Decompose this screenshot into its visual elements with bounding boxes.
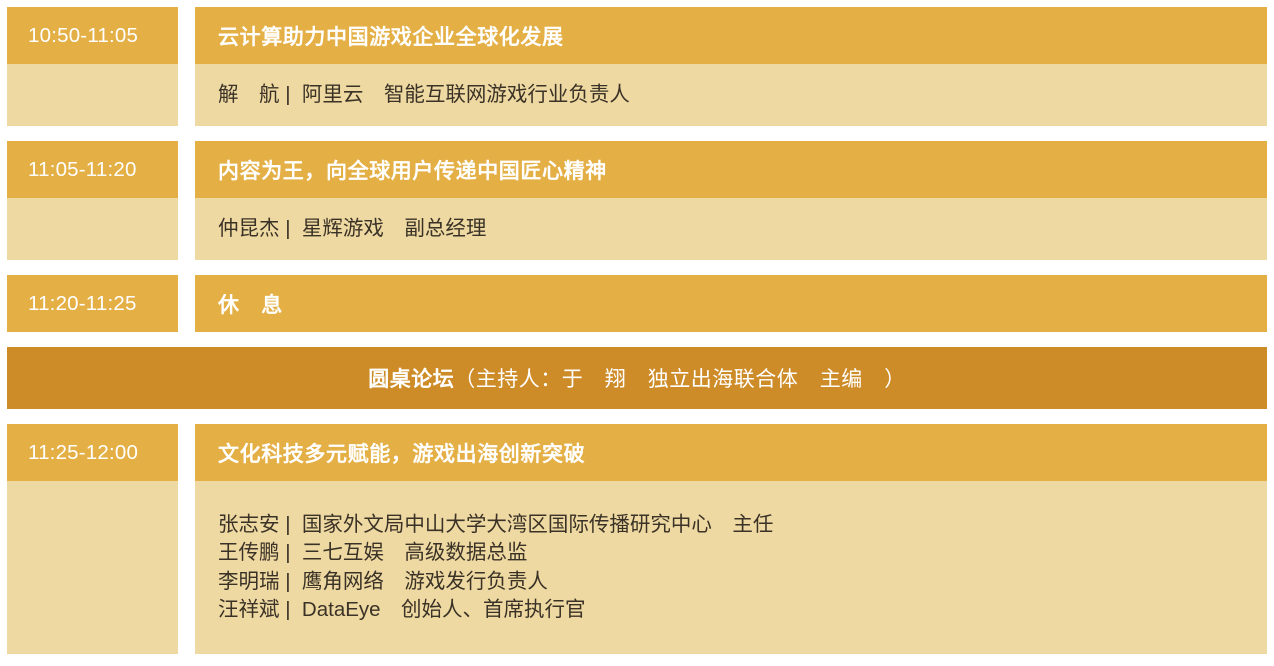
session-speaker-row: 解 航 | 阿里云 智能互联网游戏行业负责人: [7, 64, 1267, 126]
session-time-1: 10:50-11:05: [7, 7, 178, 64]
column-gutter: [178, 198, 195, 260]
panelist-line: 汪祥斌 | DataEye 创始人、首席执行官: [218, 596, 1267, 625]
roundtable-banner: 圆桌论坛（主持人：于 翔 独立出海联合体 主编 ）: [7, 347, 1267, 409]
session-time-2: 11:05-11:20: [7, 141, 178, 198]
session-block-roundtable: 11:25-12:00 文化科技多元赋能，游戏出海创新突破 张志安 | 国家外文…: [7, 424, 1267, 654]
column-gutter: [178, 7, 195, 64]
session-title-1: 云计算助力中国游戏企业全球化发展: [195, 7, 1267, 64]
roundtable-time-spacer: [7, 481, 178, 654]
session-speaker-row: 仲昆杰 | 星辉游戏 副总经理: [7, 198, 1267, 260]
column-gutter: [178, 481, 195, 654]
agenda-table: 10:50-11:05 云计算助力中国游戏企业全球化发展 解 航 | 阿里云 智…: [0, 0, 1274, 666]
session-block-break: 11:20-11:25 休 息: [7, 275, 1267, 332]
session-header-row: 11:05-11:20 内容为王，向全球用户传递中国匠心精神: [7, 141, 1267, 198]
roundtable-banner-title: 圆桌论坛: [368, 363, 454, 393]
session-speakers-2: 仲昆杰 | 星辉游戏 副总经理: [195, 198, 1267, 260]
session-header-row: 10:50-11:05 云计算助力中国游戏企业全球化发展: [7, 7, 1267, 64]
roundtable-time: 11:25-12:00: [7, 424, 178, 481]
session-block-2: 11:05-11:20 内容为王，向全球用户传递中国匠心精神 仲昆杰 | 星辉游…: [7, 141, 1267, 260]
speaker-line: 仲昆杰 | 星辉游戏 副总经理: [218, 215, 1267, 244]
session-header-row: 11:25-12:00 文化科技多元赋能，游戏出海创新突破: [7, 424, 1267, 481]
panelist-line: 王传鹏 | 三七互娱 高级数据总监: [218, 539, 1267, 568]
session-time-spacer-2: [7, 198, 178, 260]
roundtable-banner-host: （主持人：于 翔 独立出海联合体 主编 ）: [454, 363, 906, 393]
session-time-break: 11:20-11:25: [7, 275, 178, 332]
panelist-line: 张志安 | 国家外文局中山大学大湾区国际传播研究中心 主任: [218, 511, 1267, 540]
session-speaker-row: 张志安 | 国家外文局中山大学大湾区国际传播研究中心 主任 王传鹏 | 三七互娱…: [7, 481, 1267, 654]
session-header-row: 11:20-11:25 休 息: [7, 275, 1267, 332]
session-speakers-1: 解 航 | 阿里云 智能互联网游戏行业负责人: [195, 64, 1267, 126]
column-gutter: [178, 141, 195, 198]
session-title-break: 休 息: [195, 275, 1267, 332]
session-block-1: 10:50-11:05 云计算助力中国游戏企业全球化发展 解 航 | 阿里云 智…: [7, 7, 1267, 126]
column-gutter: [178, 275, 195, 332]
session-title-2: 内容为王，向全球用户传递中国匠心精神: [195, 141, 1267, 198]
roundtable-panelists: 张志安 | 国家外文局中山大学大湾区国际传播研究中心 主任 王传鹏 | 三七互娱…: [195, 481, 1267, 654]
roundtable-title: 文化科技多元赋能，游戏出海创新突破: [195, 424, 1267, 481]
session-time-spacer-1: [7, 64, 178, 126]
panelist-line: 李明瑞 | 鹰角网络 游戏发行负责人: [218, 568, 1267, 597]
column-gutter: [178, 64, 195, 126]
column-gutter: [178, 424, 195, 481]
speaker-line: 解 航 | 阿里云 智能互联网游戏行业负责人: [218, 81, 1267, 110]
